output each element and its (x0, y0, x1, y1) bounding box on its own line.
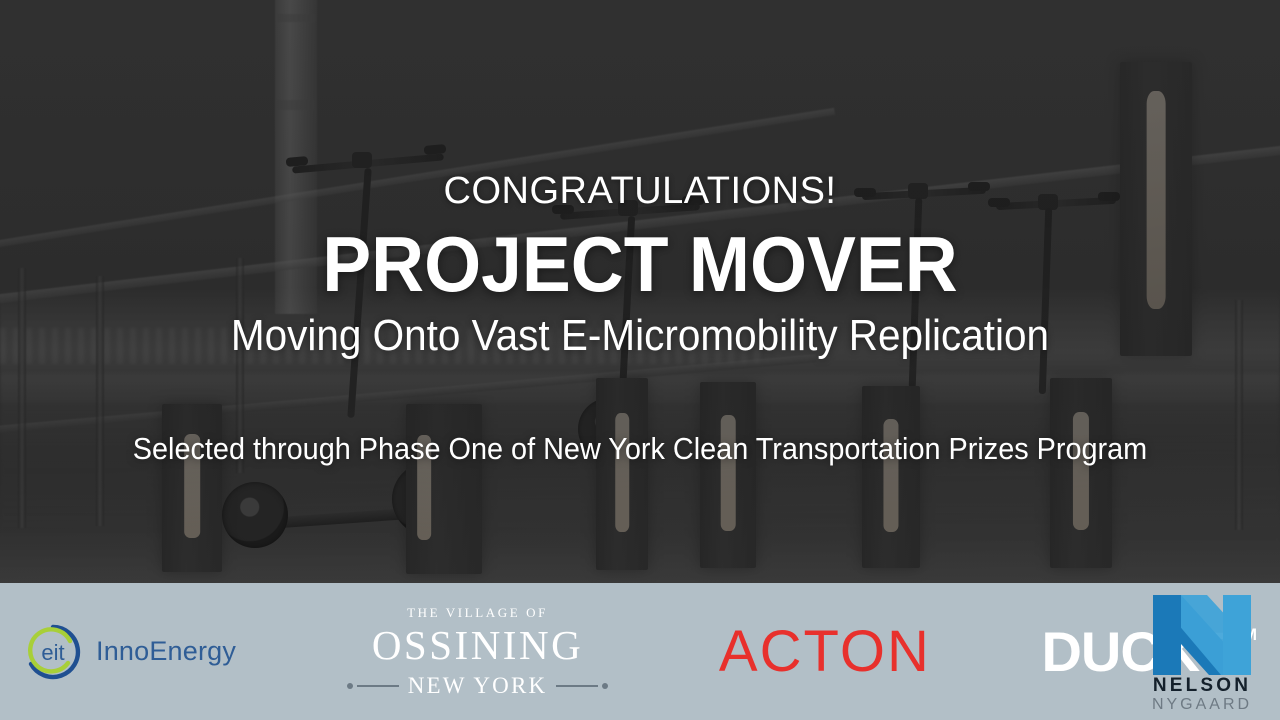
logo-village-of-ossining: THE VILLAGE OF OSSINING NEW YORK (347, 606, 609, 697)
announcement-slide: CONGRATULATIONS! PROJECT MOVER Moving On… (0, 0, 1280, 720)
nygaard-wordmark: NYGAARD (1152, 696, 1252, 714)
page-title: PROJECT MOVER (38, 210, 1241, 305)
kicker-text: CONGRATULATIONS! (0, 0, 1280, 210)
svg-text:eit: eit (41, 640, 64, 665)
slide-copy: CONGRATULATIONS! PROJECT MOVER Moving On… (0, 0, 1280, 468)
ossining-wordmark: OSSINING (372, 625, 583, 666)
subtitle-text: Moving Onto Vast E-Micromobility Replica… (51, 305, 1229, 360)
logo-acton: ACTON (719, 618, 931, 685)
partner-logo-bar: eit InnoEnergy THE VILLAGE OF OSSINING N… (0, 583, 1280, 720)
logo-nelson-nygaard: NELSON NYGAARD (1136, 589, 1268, 714)
ossining-eyebrow: THE VILLAGE OF (407, 606, 548, 619)
rule-line (357, 685, 399, 687)
ossining-state-label: NEW YORK (408, 674, 548, 697)
rule-dot-icon (602, 683, 608, 689)
nelson-wordmark: NELSON (1153, 676, 1251, 696)
letter-n-icon (1147, 589, 1257, 675)
acton-wordmark: ACTON (719, 618, 931, 685)
tagline-text: Selected through Phase One of New York C… (45, 360, 1235, 467)
eit-circle-icon: eit (22, 621, 84, 683)
rule-line (556, 685, 598, 687)
ossining-rule-left (347, 683, 399, 689)
rule-dot-icon (347, 683, 353, 689)
ossining-rule-right (556, 683, 608, 689)
innoenergy-wordmark: InnoEnergy (96, 636, 236, 667)
logo-eit-innoenergy: eit InnoEnergy (22, 621, 236, 683)
ossining-state-row: NEW YORK (347, 674, 609, 697)
